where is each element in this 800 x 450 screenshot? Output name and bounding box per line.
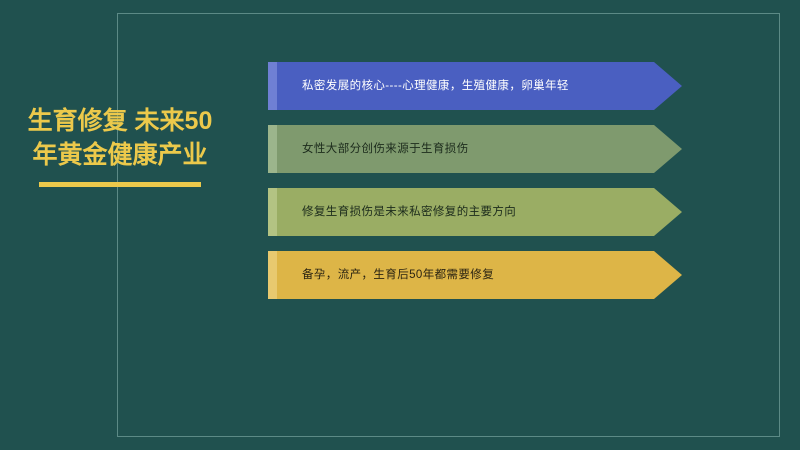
arrow-item-1: 私密发展的核心----心理健康，生殖健康，卵巢年轻 [268,62,682,110]
title-underline-rule [39,182,201,187]
arrow-label-3: 修复生育损伤是未来私密修复的主要方向 [277,204,516,220]
page-title: 生育修复 未来50年黄金健康产业 [20,104,220,172]
arrow-cap-1 [268,62,277,110]
arrow-body-2: 女性大部分创伤来源于生育损伤 [277,125,654,173]
arrow-item-3: 修复生育损伤是未来私密修复的主要方向 [268,188,682,236]
arrow-cap-3 [268,188,277,236]
arrow-label-1: 私密发展的核心----心理健康，生殖健康，卵巢年轻 [277,78,569,94]
slide-canvas: 生育修复 未来50年黄金健康产业 私密发展的核心----心理健康，生殖健康，卵巢… [0,0,800,450]
arrow-item-4: 备孕，流产，生育后50年都需要修复 [268,251,682,299]
arrow-body-3: 修复生育损伤是未来私密修复的主要方向 [277,188,654,236]
arrow-cap-4 [268,251,277,299]
arrow-point-4 [654,251,682,299]
arrow-label-4: 备孕，流产，生育后50年都需要修复 [277,267,494,283]
arrow-point-3 [654,188,682,236]
arrow-cap-2 [268,125,277,173]
arrow-body-4: 备孕，流产，生育后50年都需要修复 [277,251,654,299]
arrow-item-2: 女性大部分创伤来源于生育损伤 [268,125,682,173]
title-block: 生育修复 未来50年黄金健康产业 [20,104,220,187]
arrow-point-2 [654,125,682,173]
arrow-label-2: 女性大部分创伤来源于生育损伤 [277,141,469,157]
arrow-point-1 [654,62,682,110]
arrow-body-1: 私密发展的核心----心理健康，生殖健康，卵巢年轻 [277,62,654,110]
